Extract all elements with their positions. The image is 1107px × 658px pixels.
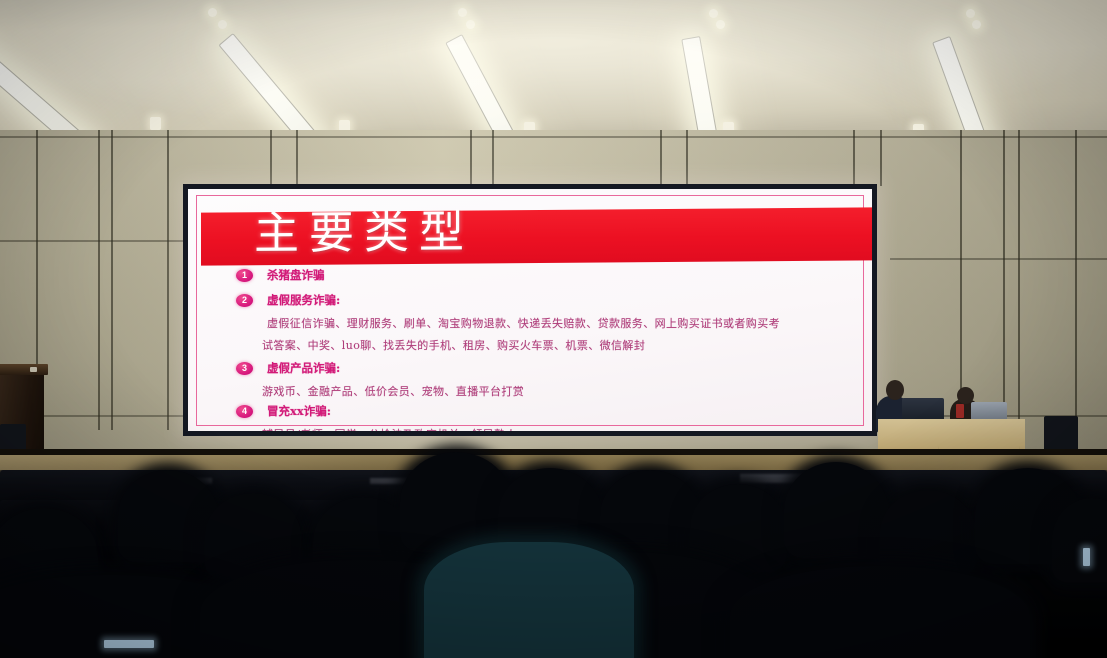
phone-screen-glow-2 [1083, 548, 1090, 566]
list-heading-1: 杀猪盘诈骗 [267, 267, 325, 283]
audience-teal-shirt [424, 542, 634, 658]
wall-groove-vertical-7 [470, 130, 472, 186]
list-item-4: 4 冒充xx诈骗: [236, 403, 331, 419]
downlight-7 [966, 9, 975, 18]
audience-head-9 [784, 462, 888, 558]
audience-head-10 [880, 490, 976, 576]
wall-groove-vertical-2 [98, 130, 100, 430]
list-heading-2: 虚假服务诈骗: [267, 292, 340, 308]
wall-groove-vertical-12 [880, 130, 882, 186]
downlight-5 [709, 9, 718, 18]
list-item-2: 2 虚假服务诈骗: [236, 292, 340, 308]
downlight-4 [466, 20, 475, 29]
list-heading-4: 冒充xx诈骗: [267, 403, 331, 419]
audience-head-5 [400, 452, 512, 552]
audience-head-2 [118, 470, 218, 562]
list-detail-2-line-1: 虚假征信诈骗、理财服务、刷单、淘宝购物退款、快递丢失赔款、贷款服务、网上购买证书… [267, 315, 780, 331]
slide-title: 主要类型 [254, 206, 474, 260]
lectern-mic-mount [30, 367, 37, 372]
wall-groove-vertical-3 [111, 130, 113, 430]
downlight-6 [716, 20, 725, 29]
list-number-badge-4: 4 [236, 405, 253, 418]
list-detail-4-line-1: 辅导员/老师、同学、公检法及政府机关、领导熟人 [262, 426, 517, 431]
laptop-1[interactable] [902, 398, 944, 421]
downlight-square-1 [150, 117, 161, 130]
presenter-1-head [886, 380, 904, 400]
list-detail-2-line-2: 试答案、中奖、luo聊、找丢失的手机、租房、购买火车票、机票、微信解封 [262, 337, 645, 353]
audience-head-7 [600, 470, 700, 562]
list-heading-3: 虚假产品诈骗: [267, 360, 340, 376]
downlight-3 [458, 8, 467, 17]
wall-groove-vertical-5 [270, 130, 272, 186]
list-number-badge-3: 3 [236, 362, 253, 375]
slide-body: 1 杀猪盘诈骗 2 虚假服务诈骗: 虚假征信诈骗、理财服务、刷单、淘宝购物退款、… [188, 263, 872, 431]
projection-screen: 主要类型 1 杀猪盘诈骗 2 虚假服务诈骗: 虚假征信诈骗、理财服务、刷单、淘宝… [183, 184, 877, 436]
presentation-slide: 主要类型 1 杀猪盘诈骗 2 虚假服务诈骗: 虚假征信诈骗、理财服务、刷单、淘宝… [188, 189, 872, 431]
audience-shoulders-4 [730, 566, 1030, 658]
red-cup [956, 404, 964, 418]
wall-groove-vertical-6 [296, 130, 298, 186]
downlight-8 [972, 20, 981, 29]
list-detail-3-line-1: 游戏币、金融产品、低价会员、宠物、直播平台打赏 [262, 383, 524, 399]
wall-groove-vertical-16 [1075, 130, 1077, 450]
wall-groove-horizontal-2 [0, 240, 200, 242]
downlight-1 [208, 8, 217, 17]
lectern-top [0, 364, 48, 375]
list-number-badge-1: 1 [236, 269, 253, 282]
wall-groove-vertical-10 [686, 130, 688, 186]
list-item-1: 1 杀猪盘诈骗 [236, 267, 325, 283]
audience-head-8 [690, 484, 786, 572]
phone-screen-glow [104, 640, 154, 648]
list-number-badge-2: 2 [236, 294, 253, 307]
wall-groove-vertical-15 [1018, 130, 1020, 450]
wall-groove-horizontal-1 [0, 136, 1107, 138]
wall-groove-vertical-9 [660, 130, 662, 186]
downlight-2 [218, 20, 227, 29]
lecture-hall-photo: 主要类型 1 杀猪盘诈骗 2 虚假服务诈骗: 虚假征信诈骗、理财服务、刷单、淘宝… [0, 0, 1107, 658]
wall-groove-vertical-4 [167, 130, 169, 430]
wall-groove-horizontal-3 [890, 258, 1107, 260]
wall-groove-vertical-8 [492, 130, 494, 186]
list-item-3: 3 虚假产品诈骗: [236, 360, 340, 376]
ceiling [0, 0, 1107, 138]
wall-groove-vertical-11 [853, 130, 855, 186]
